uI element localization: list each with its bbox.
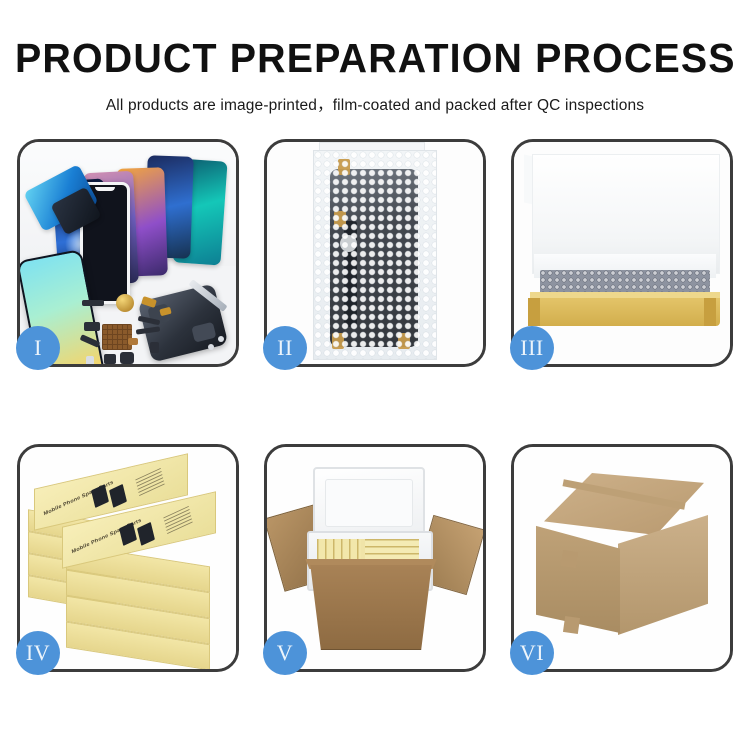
step-panel-6[interactable]: VI: [511, 444, 733, 672]
carton-tape-upper-icon: [561, 550, 578, 568]
camera-module-icon: [104, 354, 116, 364]
carton-tape-lower-icon: [563, 616, 580, 634]
sim-tray-icon: [86, 356, 94, 364]
page-subtitle: All products are image-printed，film-coat…: [0, 93, 750, 115]
box-end-left-icon: [528, 298, 540, 326]
step-badge-5: V: [263, 631, 307, 675]
sd-card-icon: [150, 342, 159, 353]
step-badge-4: IV: [16, 631, 60, 675]
retail-box-window-d: [137, 522, 155, 546]
foam-lid-inner-icon: [325, 479, 413, 527]
step-badge-6: VI: [510, 631, 554, 675]
carton-body-icon: [305, 565, 437, 650]
header: PRODUCT PREPARATION PROCESS All products…: [0, 0, 750, 115]
retail-box-textlines-b: [163, 506, 192, 534]
bubble-wrap-bag-icon: [313, 150, 437, 360]
box-end-right-icon: [704, 298, 716, 326]
bubble-texture-icon: [314, 151, 436, 359]
process-steps-grid: I II: [17, 139, 733, 672]
page-title: PRODUCT PREPARATION PROCESS: [15, 38, 735, 79]
screw-b-icon: [218, 336, 224, 342]
vibrator-icon: [120, 352, 134, 364]
step-panel-5[interactable]: V: [264, 444, 486, 672]
step-badge-2: II: [263, 326, 307, 370]
copper-shield-icon: [128, 338, 138, 345]
screw-a-icon: [208, 344, 214, 350]
speaker-module-icon: [116, 294, 134, 312]
step-badge-1: I: [16, 326, 60, 370]
step-panel-3[interactable]: III: [511, 139, 733, 367]
step-panel-1[interactable]: I: [17, 139, 239, 367]
step-panel-2[interactable]: II: [264, 139, 486, 367]
retail-box-window-b: [109, 484, 127, 508]
chip-grid-icon: [102, 324, 132, 350]
connector-a-icon: [84, 322, 100, 331]
foam-cooler-lid-icon: [313, 467, 425, 537]
notch-icon: [95, 187, 115, 191]
kraft-box-body-icon: [530, 298, 720, 326]
step-badge-3: III: [510, 326, 554, 370]
retail-box-textlines-a: [135, 468, 164, 496]
step-panel-4[interactable]: Mobile Phone Spare Parts Mobile Phone Sp…: [17, 444, 239, 672]
component-bar-icon: [82, 300, 104, 306]
